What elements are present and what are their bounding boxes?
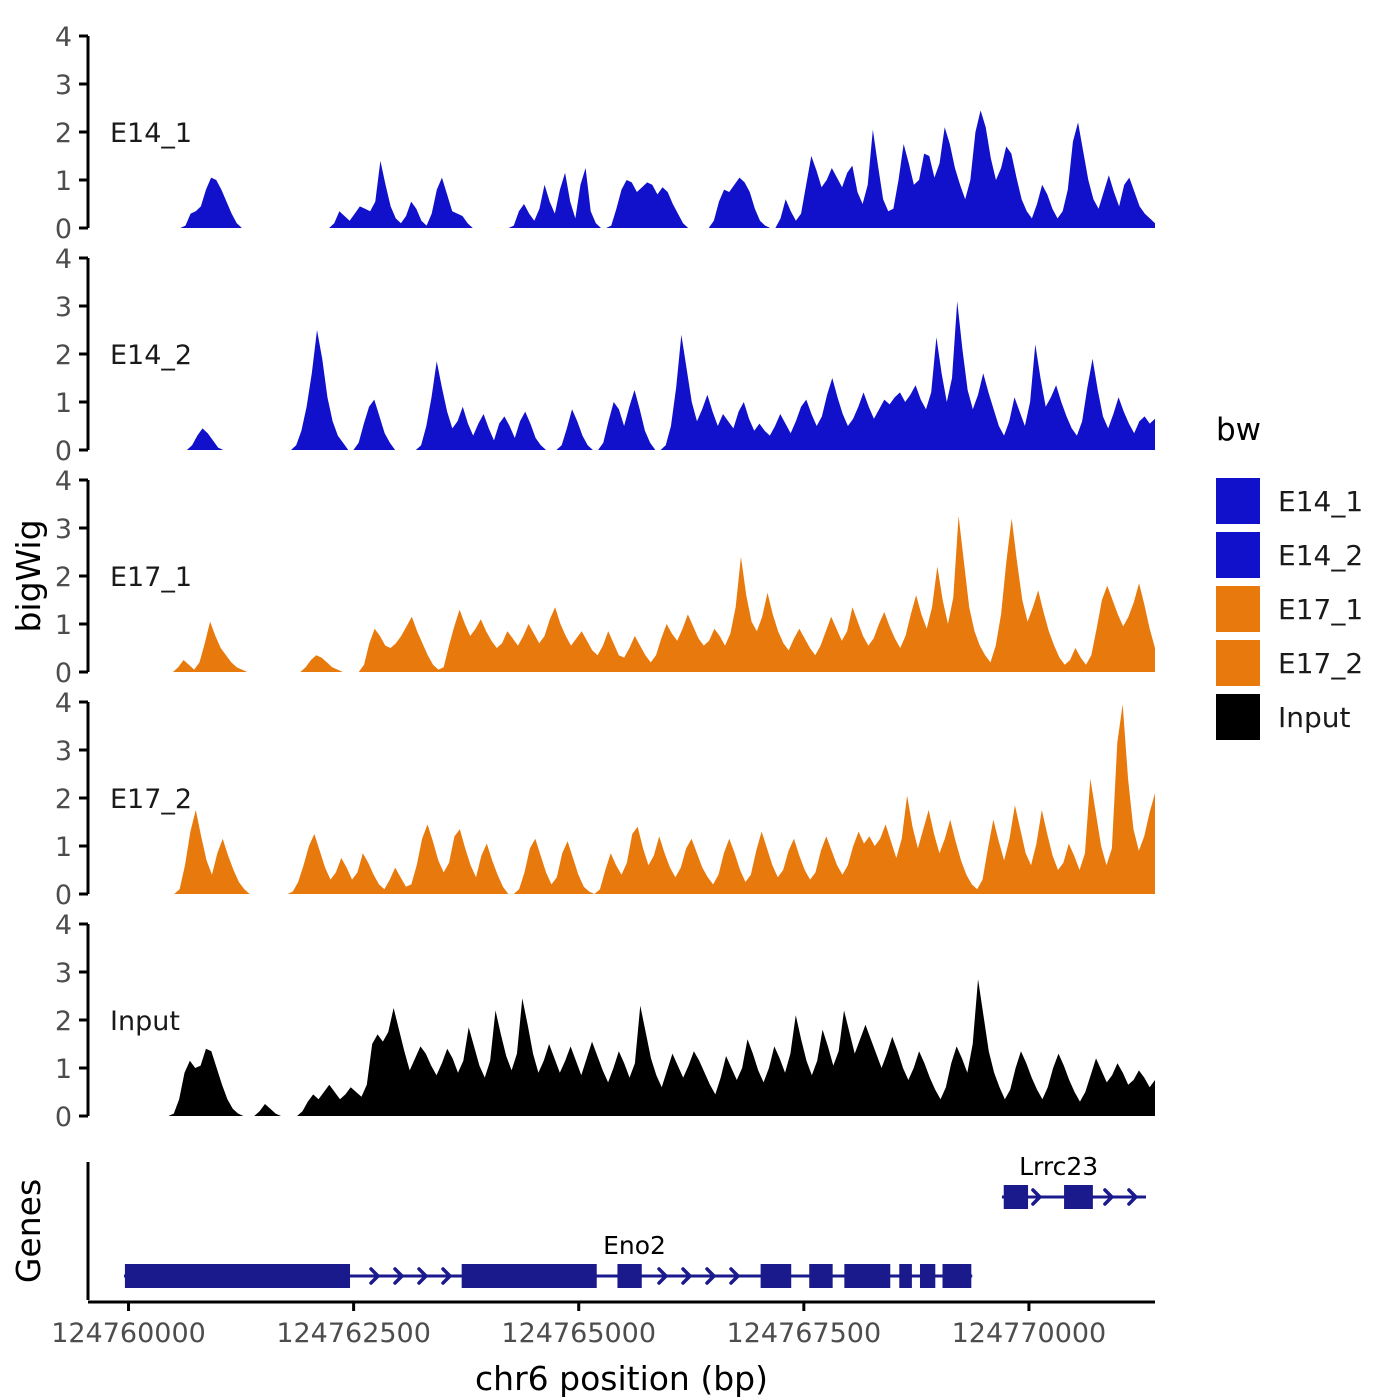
bigwig-panels: 01234E14_101234E14_201234E17_101234E17_2… (55, 22, 1155, 1133)
gene-name-label-Lrrc23: Lrrc23 (1019, 1152, 1098, 1181)
y-tick-label-Input-0: 0 (55, 1102, 72, 1133)
y-tick-label-E14_2-3: 3 (55, 292, 72, 323)
legend: bwE14_1E14_2E17_1E17_2Input (1216, 412, 1363, 740)
legend-item-E14_2[interactable]: E14_2 (1216, 532, 1363, 578)
gene-Eno2[interactable]: Eno2 (124, 1231, 972, 1288)
legend-swatch-E17_1 (1216, 586, 1260, 632)
y-tick-label-E17_1-0: 0 (55, 658, 72, 689)
legend-label-E14_2: E14_2 (1278, 539, 1363, 572)
y-tick-label-E17_2-3: 3 (55, 736, 72, 767)
track-label-E17_1: E17_1 (110, 562, 192, 593)
y-tick-label-E14_2-1: 1 (55, 388, 72, 419)
gene-exon-Lrrc23-1 (1004, 1185, 1028, 1209)
track-panel-E17_1: 01234E17_1 (55, 466, 1155, 689)
track-panel-E14_1: 01234E14_1 (55, 22, 1155, 245)
legend-swatch-Input (1216, 694, 1260, 740)
gene-exon-Lrrc23-2 (1064, 1185, 1093, 1209)
track-label-E17_2: E17_2 (110, 784, 192, 815)
y-tick-label-E14_2-2: 2 (55, 340, 72, 371)
legend-item-E14_1[interactable]: E14_1 (1216, 478, 1363, 524)
x-axis: 1247600001247625001247650001247675001247… (51, 1302, 1155, 1398)
x-axis-title: chr6 position (bp) (475, 1359, 768, 1398)
x-tick-label-124760000: 124760000 (51, 1318, 206, 1349)
y-tick-label-Input-3: 3 (55, 958, 72, 989)
y-tick-label-E14_1-3: 3 (55, 70, 72, 101)
gene-exon-Eno2-9 (943, 1264, 972, 1288)
gene-exon-Eno2-4 (761, 1264, 792, 1288)
track-panel-Input: 01234Input (55, 910, 1155, 1133)
y-tick-label-Input-1: 1 (55, 1054, 72, 1085)
track-label-E14_1: E14_1 (110, 118, 192, 149)
legend-label-E17_2: E17_2 (1278, 647, 1363, 680)
y-tick-label-E17_1-1: 1 (55, 610, 72, 641)
gene-exon-Eno2-8 (920, 1264, 935, 1288)
legend-swatch-E14_2 (1216, 532, 1260, 578)
y-tick-label-E14_2-0: 0 (55, 436, 72, 467)
y-tick-label-E17_1-3: 3 (55, 514, 72, 545)
gene-name-label-Eno2: Eno2 (603, 1231, 666, 1260)
track-panel-E14_2: 01234E14_2 (55, 244, 1155, 467)
genome-browser-figure: 01234E14_101234E14_201234E17_101234E17_2… (0, 0, 1400, 1400)
legend-item-E17_2[interactable]: E17_2 (1216, 640, 1363, 686)
y-tick-label-E17_1-4: 4 (55, 466, 72, 497)
gene-exon-Eno2-7 (899, 1264, 912, 1288)
legend-item-Input[interactable]: Input (1216, 694, 1351, 740)
gene-exon-Eno2-1 (125, 1264, 350, 1288)
y-tick-label-E17_2-0: 0 (55, 880, 72, 911)
signal-area-E14_2 (88, 301, 1155, 450)
y-tick-label-E14_1-2: 2 (55, 118, 72, 149)
y-tick-label-E17_2-1: 1 (55, 832, 72, 863)
gene-exon-Eno2-6 (844, 1264, 890, 1288)
genes-panel: GenesLrrc23Eno2 (9, 1152, 1146, 1300)
y-tick-label-E14_2-4: 4 (55, 244, 72, 275)
x-tick-label-124767500: 124767500 (727, 1318, 882, 1349)
y-tick-label-E17_2-2: 2 (55, 784, 72, 815)
y-tick-label-E14_1-1: 1 (55, 166, 72, 197)
bigwig-axis-title: bigWig (9, 519, 48, 632)
gene-exon-Eno2-3 (617, 1264, 641, 1288)
track-panel-E17_2: 01234E17_2 (55, 688, 1155, 911)
legend-label-Input: Input (1278, 701, 1351, 734)
gene-Lrrc23[interactable]: Lrrc23 (1002, 1152, 1146, 1209)
legend-title: bw (1216, 412, 1261, 448)
legend-label-E17_1: E17_1 (1278, 593, 1363, 626)
signal-area-E14_1 (88, 110, 1155, 228)
legend-swatch-E14_1 (1216, 478, 1260, 524)
legend-swatch-E17_2 (1216, 640, 1260, 686)
genes-axis-title: Genes (9, 1179, 48, 1283)
y-tick-label-E14_1-4: 4 (55, 22, 72, 53)
signal-area-E17_1 (88, 516, 1155, 672)
track-label-E14_2: E14_2 (110, 340, 192, 371)
gene-exon-Eno2-2 (462, 1264, 597, 1288)
y-tick-label-Input-2: 2 (55, 1006, 72, 1037)
y-tick-label-E14_1-0: 0 (55, 214, 72, 245)
x-tick-label-124765000: 124765000 (501, 1318, 656, 1349)
legend-item-E17_1[interactable]: E17_1 (1216, 586, 1363, 632)
signal-area-E17_2 (88, 704, 1155, 894)
track-label-Input: Input (110, 1006, 180, 1037)
y-tick-label-Input-4: 4 (55, 910, 72, 941)
signal-area-Input (88, 979, 1155, 1116)
gene-exon-Eno2-5 (809, 1264, 832, 1288)
x-tick-label-124770000: 124770000 (952, 1318, 1107, 1349)
y-tick-label-E17_1-2: 2 (55, 562, 72, 593)
y-tick-label-E17_2-4: 4 (55, 688, 72, 719)
x-tick-label-124762500: 124762500 (276, 1318, 431, 1349)
legend-label-E14_1: E14_1 (1278, 485, 1363, 518)
